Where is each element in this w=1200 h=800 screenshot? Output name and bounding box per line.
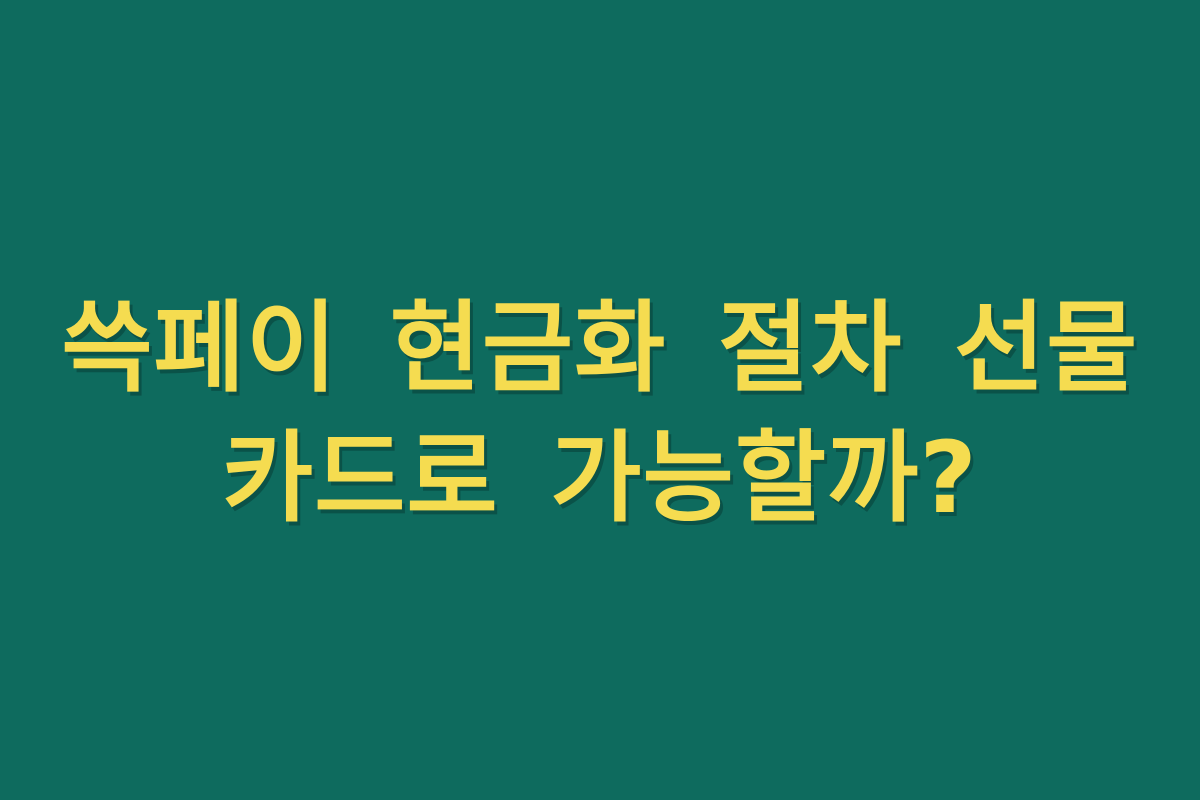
headline-block: 쓱페이 현금화 절차 선물 카드로 가능할까? bbox=[0, 284, 1200, 544]
headline-line-1: 쓱페이 현금화 절차 선물 bbox=[24, 284, 1176, 414]
banner-canvas: 쓱페이 현금화 절차 선물 카드로 가능할까? bbox=[0, 0, 1200, 800]
headline-line-2: 카드로 가능할까? bbox=[24, 414, 1176, 544]
